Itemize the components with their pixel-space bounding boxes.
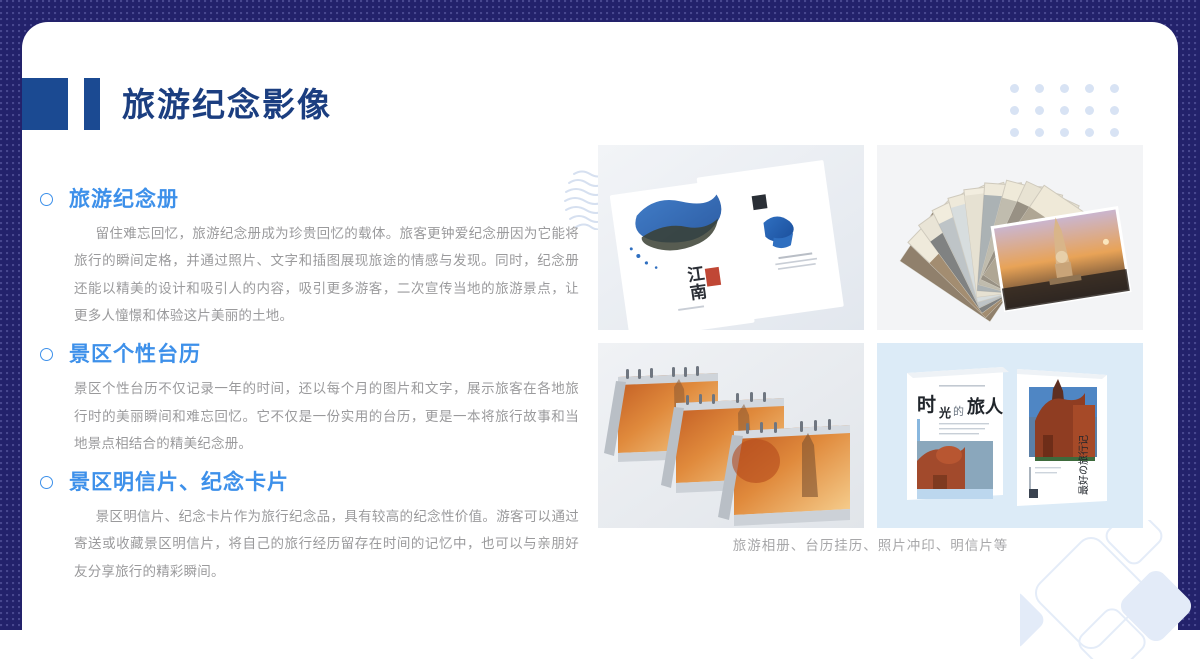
gallery-image-postcard-fan[interactable] — [877, 145, 1143, 330]
title-accent-bar-wide — [22, 78, 68, 130]
circle-bullet-icon — [40, 193, 53, 206]
gallery-image-photo-album-brochure[interactable]: 江 南 — [598, 145, 864, 330]
svg-text:时: 时 — [917, 394, 936, 416]
svg-text:的: 的 — [953, 404, 964, 418]
gallery-image-desk-calendars[interactable] — [598, 343, 864, 528]
section-body: 景区明信片、纪念卡片作为旅行纪念品，具有较高的纪念性价值。游客可以通过寄送或收藏… — [74, 503, 579, 585]
content-sections: 旅游纪念册 留住难忘回忆，旅游纪念册成为珍贵回忆的载体。旅客更钟爱纪念册因为它能… — [40, 188, 585, 599]
section-body: 景区个性台历不仅记录一年的时间，还以每个月的图片和文字，展示旅客在各地旅行时的美… — [74, 375, 579, 457]
circle-bullet-icon — [40, 348, 53, 361]
gallery-row: 江 南 — [598, 145, 1143, 330]
gallery-row: 时 光 的 旅人 — [598, 343, 1143, 528]
slide-root: 旅游纪念影像 旅游纪念册 留住难忘回忆，旅游纪念册 — [0, 0, 1200, 659]
page-title: 旅游纪念影像 — [122, 88, 332, 121]
section-travel-album: 旅游纪念册 留住难忘回忆，旅游纪念册成为珍贵回忆的载体。旅客更钟爱纪念册因为它能… — [40, 188, 585, 329]
section-body: 留住难忘回忆，旅游纪念册成为珍贵回忆的载体。旅客更钟爱纪念册因为它能将旅行的瞬间… — [74, 220, 579, 329]
gallery-grid: 江 南 — [598, 145, 1143, 541]
section-heading: 旅游纪念册 — [40, 188, 585, 211]
page-title-row: 旅游纪念影像 — [22, 78, 332, 130]
dot-grid-decoration — [1010, 84, 1135, 150]
section-title: 旅游纪念册 — [69, 188, 179, 211]
svg-text:旅人: 旅人 — [967, 396, 1004, 418]
svg-text:光: 光 — [938, 405, 951, 420]
svg-text:最好の旅行记: 最好の旅行记 — [1077, 435, 1090, 495]
section-heading: 景区个性台历 — [40, 343, 585, 366]
circle-bullet-icon — [40, 476, 53, 489]
section-desk-calendar: 景区个性台历 景区个性台历不仅记录一年的时间，还以每个月的图片和文字，展示旅客在… — [40, 343, 585, 457]
section-heading: 景区明信片、纪念卡片 — [40, 471, 585, 494]
section-title: 景区明信片、纪念卡片 — [69, 471, 289, 494]
svg-text:南: 南 — [689, 281, 709, 304]
section-postcard: 景区明信片、纪念卡片 景区明信片、纪念卡片作为旅行纪念品，具有较高的纪念性价值。… — [40, 471, 585, 585]
title-accent-bar-thin — [84, 78, 100, 130]
section-title: 景区个性台历 — [69, 343, 201, 366]
gallery-caption: 旅游相册、台历挂历、照片冲印、明信片等 — [598, 534, 1143, 554]
gallery-image-travel-photo-books[interactable]: 时 光 的 旅人 — [877, 343, 1143, 528]
